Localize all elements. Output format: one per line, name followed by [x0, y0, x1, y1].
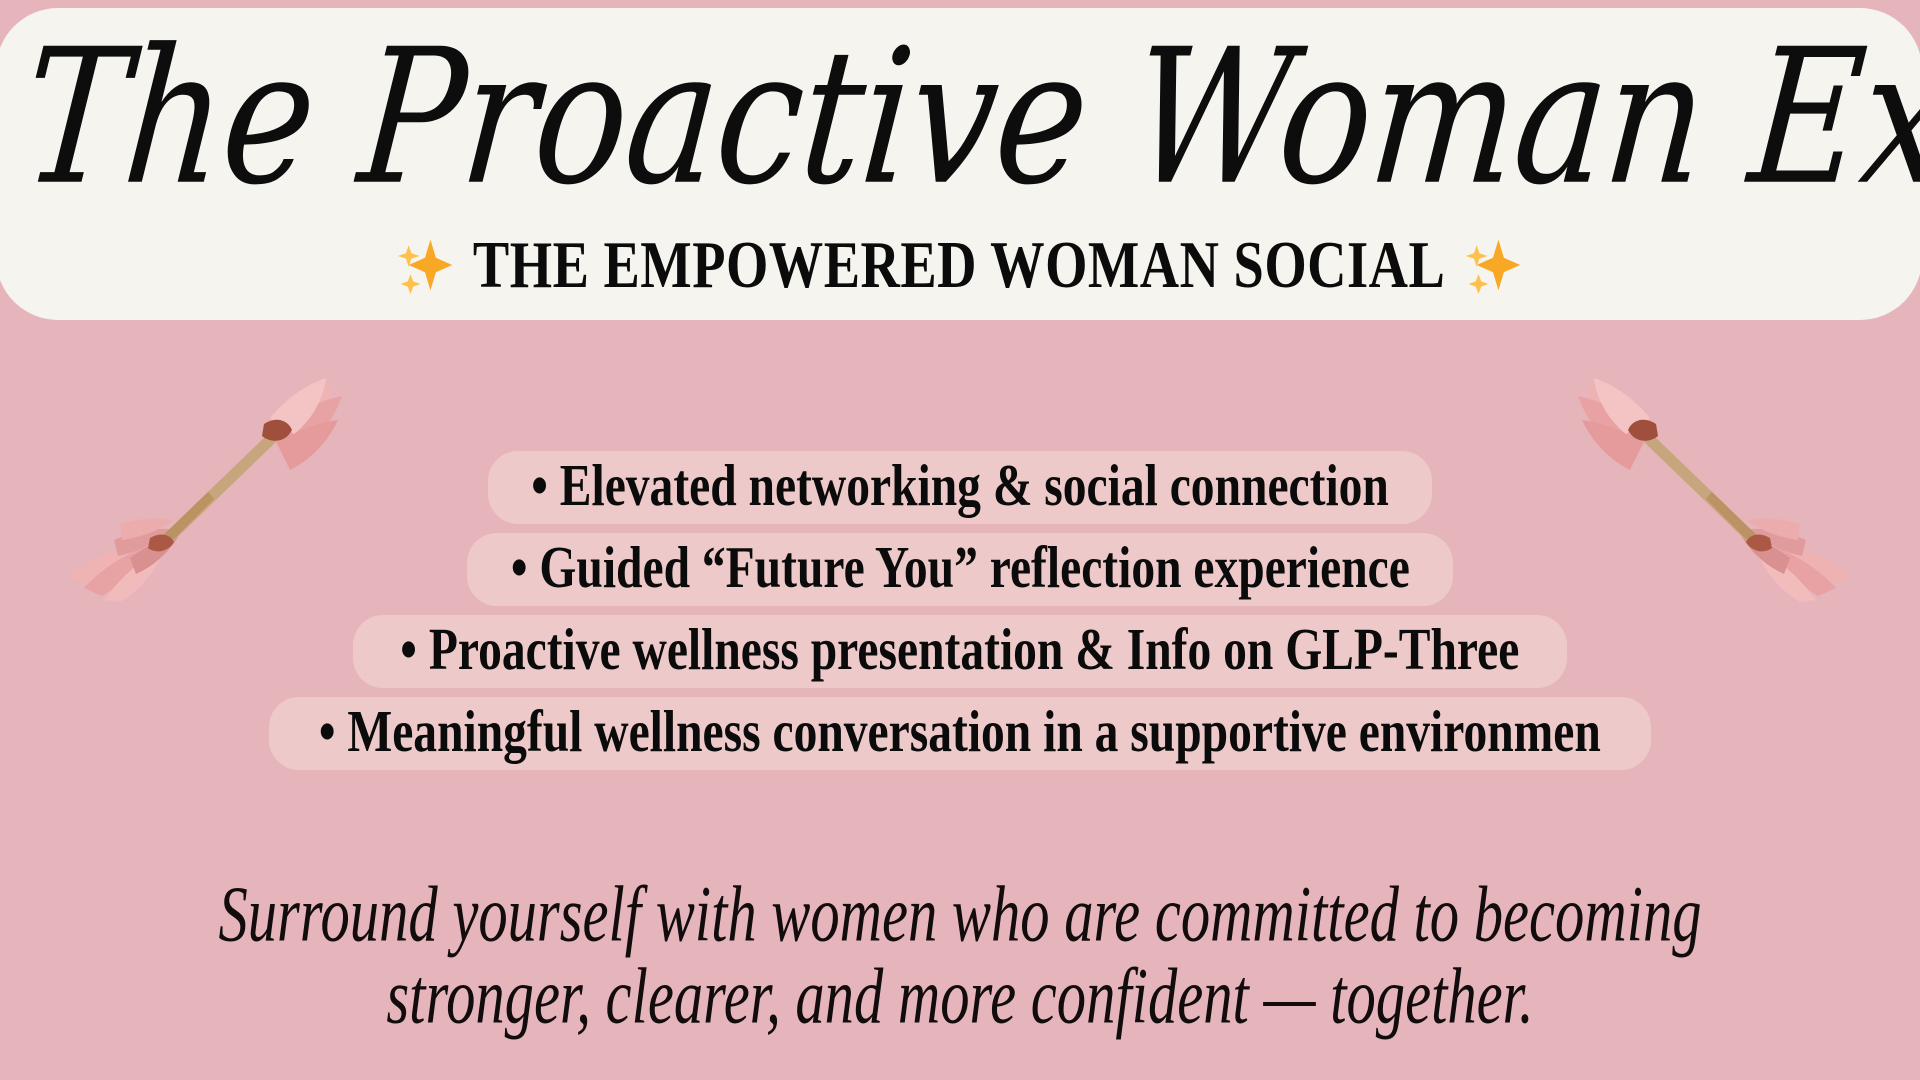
header-card: The Proactive Woman Experience THE EMPOW…	[0, 8, 1920, 320]
subtitle-row: THE EMPOWERED WOMAN SOCIAL	[0, 236, 1920, 294]
flyer-canvas: The Proactive Woman Experience THE EMPOW…	[0, 0, 1920, 1080]
page-title: The Proactive Woman Experience	[15, 8, 1904, 236]
sparkles-icon	[396, 236, 454, 294]
list-item-label: • Meaningful wellness conversation in a …	[319, 690, 1601, 774]
sparkles-icon	[1464, 236, 1522, 294]
benefits-list: • Elevated networking & social connectio…	[0, 452, 1920, 780]
list-item: • Elevated networking & social connectio…	[0, 452, 1920, 534]
list-item: • Meaningful wellness conversation in a …	[0, 698, 1920, 780]
list-item-label: • Guided “Future You” reflection experie…	[511, 526, 1410, 610]
list-item-label: • Elevated networking & social connectio…	[531, 444, 1389, 528]
tagline-line-2: stronger, clearer, and more confident — …	[114, 944, 1807, 1047]
list-item-label: • Proactive wellness presentation & Info…	[400, 608, 1519, 692]
list-item: • Proactive wellness presentation & Info…	[0, 616, 1920, 698]
subtitle-text: THE EMPOWERED WOMAN SOCIAL	[473, 230, 1445, 301]
list-item: • Guided “Future You” reflection experie…	[0, 534, 1920, 616]
closing-tagline: Surround yourself with women who are com…	[50, 874, 1870, 1038]
